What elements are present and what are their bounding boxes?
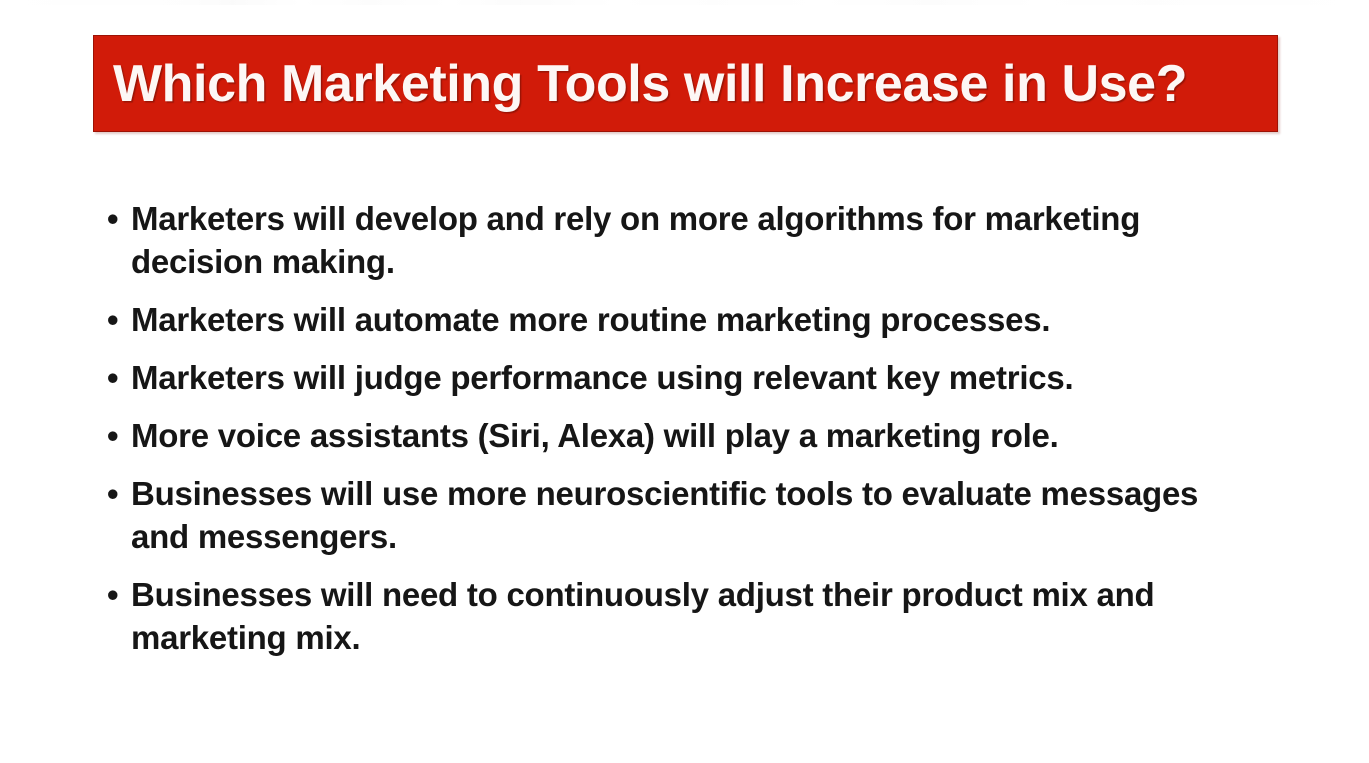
bullet-point-icon: • [107, 573, 125, 616]
bullet-item-label: Businesses will need to continuously adj… [131, 573, 1264, 659]
presentation-slide: Which Marketing Tools will Increase in U… [0, 0, 1369, 763]
bullet-list-item: • Businesses will use more neuroscientif… [104, 472, 1264, 558]
bullet-list-item: • More voice assistants (Siri, Alexa) wi… [104, 414, 1264, 457]
title-banner: Which Marketing Tools will Increase in U… [93, 35, 1278, 132]
bullet-list-item: • Marketers will judge performance using… [104, 356, 1264, 399]
bullet-item-label: More voice assistants (Siri, Alexa) will… [131, 414, 1264, 457]
bullet-item-label: Marketers will judge performance using r… [131, 356, 1264, 399]
bullet-list-item: • Marketers will develop and rely on mor… [104, 197, 1264, 283]
bullet-point-icon: • [107, 356, 125, 399]
bullet-item-label: Marketers will automate more routine mar… [131, 298, 1264, 341]
bullet-item-label: Businesses will use more neuroscientific… [131, 472, 1264, 558]
bullet-list: • Marketers will develop and rely on mor… [104, 197, 1264, 659]
bullet-list-item: • Businesses will need to continuously a… [104, 573, 1264, 659]
top-edge-artifact [0, 0, 1369, 5]
bullet-point-icon: • [107, 197, 125, 240]
bullet-point-icon: • [107, 472, 125, 515]
bullet-point-icon: • [107, 414, 125, 457]
bullet-item-label: Marketers will develop and rely on more … [131, 197, 1264, 283]
slide-title: Which Marketing Tools will Increase in U… [94, 58, 1187, 110]
bullet-list-item: • Marketers will automate more routine m… [104, 298, 1264, 341]
bullet-point-icon: • [107, 298, 125, 341]
